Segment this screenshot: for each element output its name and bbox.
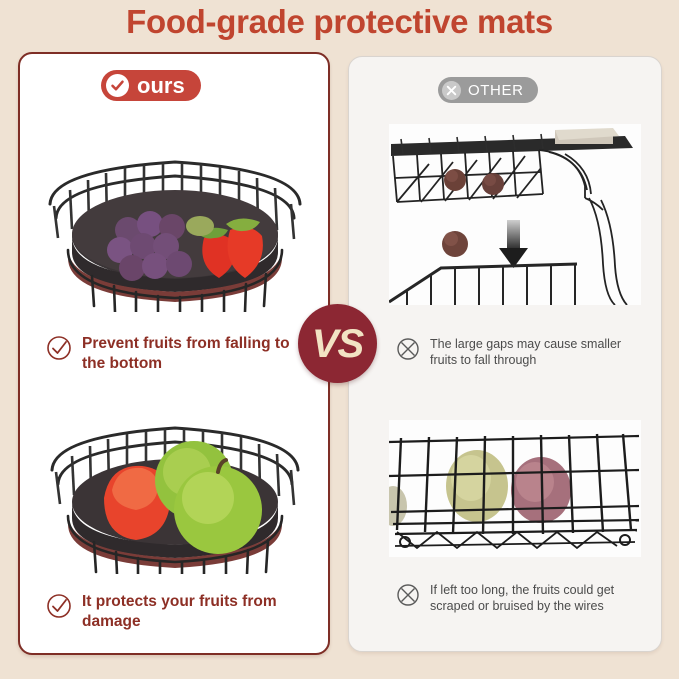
ours-caption-2-text: It protects your fruits from damage [82,592,306,632]
check-circle-icon [46,593,72,624]
x-circle-icon [396,337,420,366]
page-title: Food-grade protective mats [0,3,679,41]
other-caption-1-text: The large gaps may cause smaller fruits … [430,336,646,368]
ours-caption-2: It protects your fruits from damage [46,592,306,632]
other-badge: OTHER [438,77,538,103]
ours-photo-grapes-strawberries [32,126,318,312]
x-circle-icon [442,81,461,100]
vs-badge: VS [298,304,377,383]
other-photo-gaps-falling-fruit [389,124,641,305]
other-photo-bruised-by-wires [389,420,641,557]
other-caption-2: If left too long, the fruits could get s… [396,582,646,614]
ours-badge: ours [101,70,201,101]
other-caption-2-text: If left too long, the fruits could get s… [430,582,646,614]
ours-caption-1: Prevent fruits from falling to the botto… [46,334,306,374]
ours-caption-1-text: Prevent fruits from falling to the botto… [82,334,306,374]
ours-photo-apples [32,398,318,574]
x-circle-icon [396,583,420,612]
other-caption-1: The large gaps may cause smaller fruits … [396,336,646,368]
check-circle-icon [106,74,129,97]
other-badge-label: OTHER [468,83,524,98]
ours-badge-label: ours [137,75,185,97]
vs-label: VS [312,324,363,364]
check-circle-icon [46,335,72,366]
